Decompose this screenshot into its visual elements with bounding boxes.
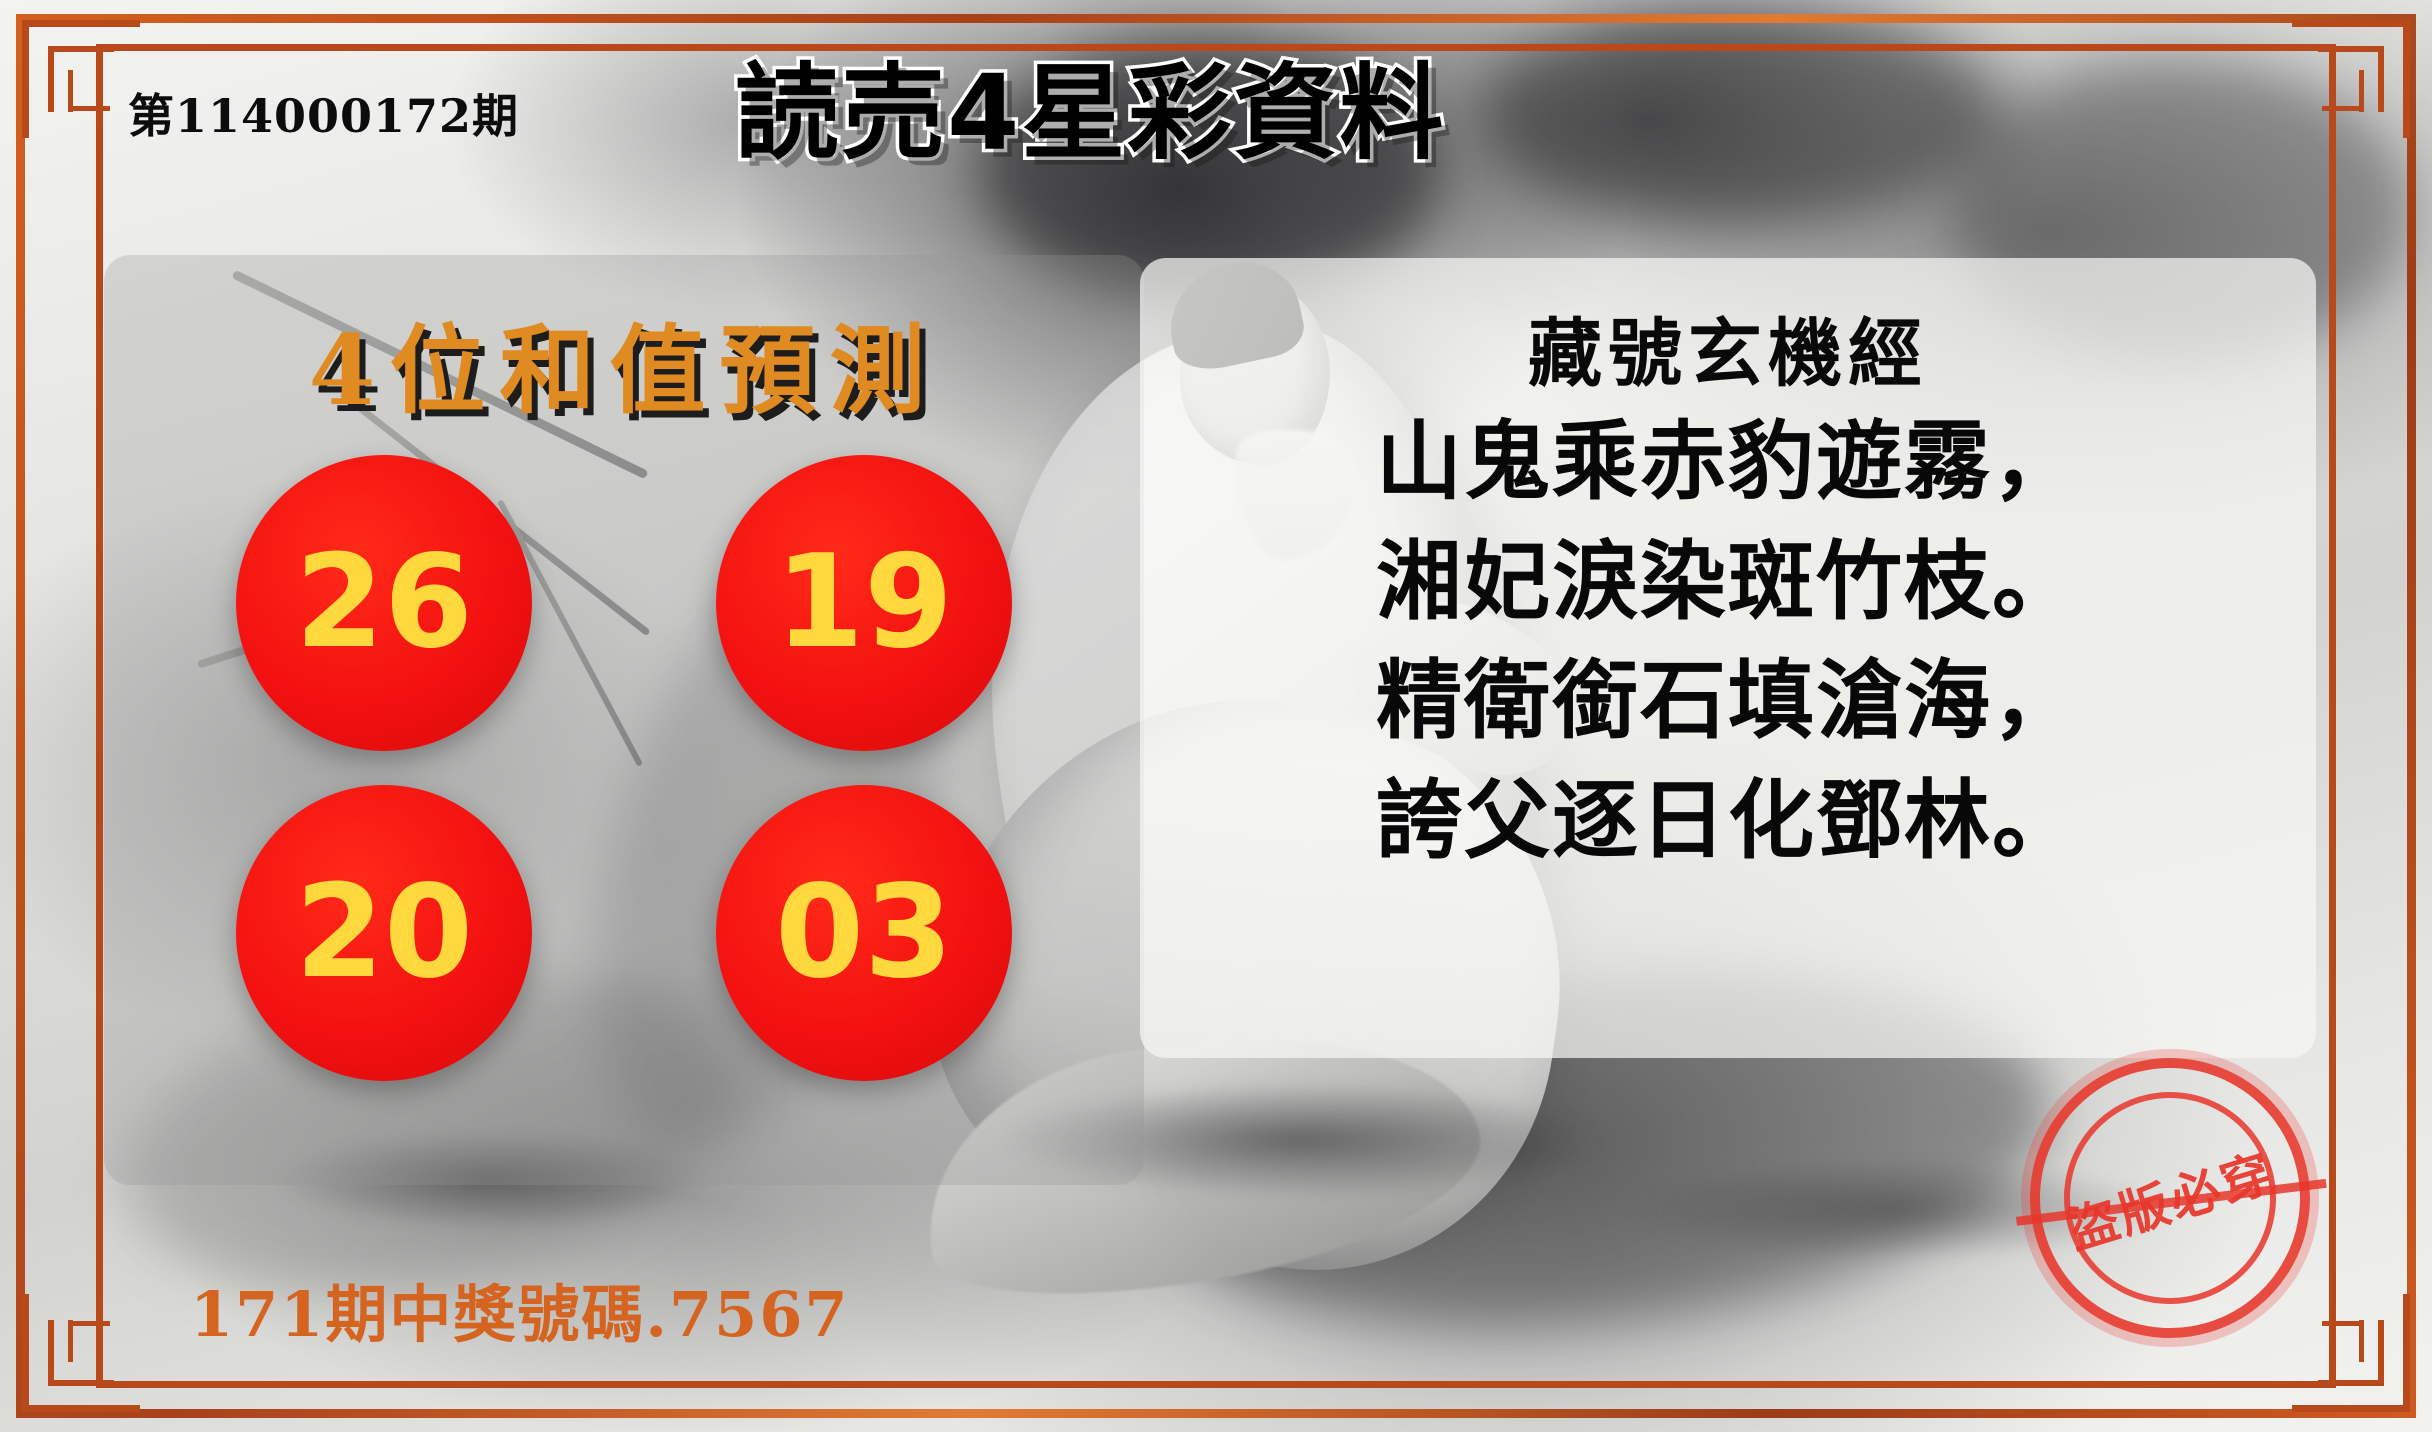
poem-title: 藏號玄機經	[1140, 294, 2316, 401]
prediction-ball[interactable]: 20	[236, 785, 532, 1081]
poem-line: 湘妃淚染斑竹枝。	[1376, 526, 2080, 640]
poem-line: 誇父逐日化鄧林。	[1376, 765, 2080, 879]
prediction-ball-value: 20	[295, 869, 473, 997]
prediction-panel: 4位和值預測 26 19 20 03	[104, 255, 1144, 1185]
issue-number: 第114000172期	[128, 80, 519, 146]
prediction-panel-title: 4位和值預測	[104, 293, 1144, 432]
prediction-ball-value: 19	[775, 539, 953, 667]
prediction-ball[interactable]: 26	[236, 455, 532, 751]
poem-body: 山鬼乘赤豹遊霧， 湘妃淚染斑竹枝。 精衛銜石填滄海， 誇父逐日化鄧林。	[1140, 406, 2316, 878]
prediction-ball-value: 03	[775, 869, 953, 997]
poem-line: 山鬼乘赤豹遊霧，	[1376, 406, 2080, 520]
page-title: 読売4星彩資料	[735, 58, 1445, 168]
lottery-poster: 第114000172期 読売4星彩資料 4位和值預測 26 19 20 03 藏…	[0, 0, 2432, 1432]
poem-line: 精衛銜石填滄海，	[1376, 645, 2080, 759]
prediction-ball-grid: 26 19 20 03	[104, 455, 1144, 1081]
prediction-ball-value: 26	[295, 539, 473, 667]
previous-result-text: 171期中獎號碼.7567	[190, 1264, 850, 1354]
prediction-ball[interactable]: 19	[716, 455, 1012, 751]
poem-panel: 藏號玄機經 山鬼乘赤豹遊霧， 湘妃淚染斑竹枝。 精衛銜石填滄海， 誇父逐日化鄧林…	[1140, 258, 2316, 1058]
prediction-ball[interactable]: 03	[716, 785, 1012, 1081]
